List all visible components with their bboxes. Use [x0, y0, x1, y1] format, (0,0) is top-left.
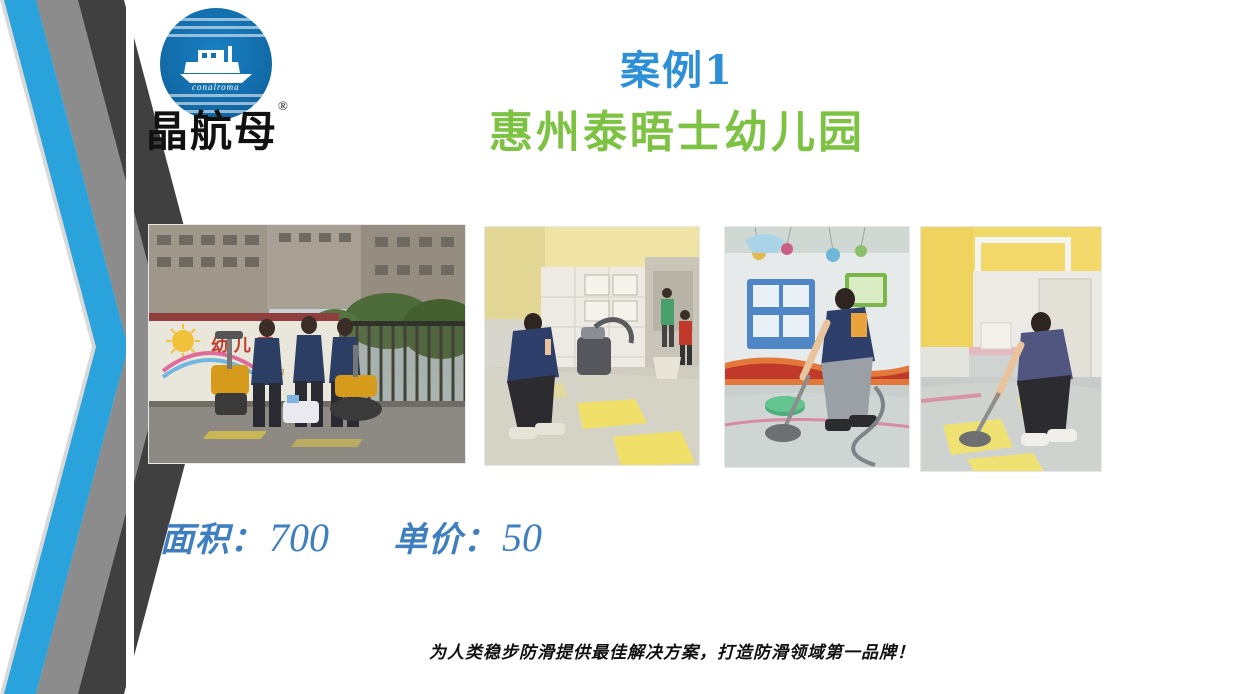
logo-emblem-text: conalroma	[192, 82, 240, 92]
photo-corridor-work	[484, 226, 700, 466]
footer-slogan: 为人类稳步防滑提供最佳解决方案，打造防滑领域第一品牌！	[0, 638, 1234, 663]
price-label: 单价：	[393, 512, 498, 561]
slide-canvas: conalroma 晶航母 ® 案例1 惠州泰晤士幼儿园	[0, 0, 1234, 694]
project-stats: 面积： 700 单价： 50	[160, 512, 542, 561]
case-title: 案例1	[0, 38, 1234, 96]
project-title: 惠州泰晤士幼儿园	[0, 96, 1234, 160]
photo-strip: 幼 儿 园 arten	[148, 222, 1108, 470]
photo-kindergarten-entrance: 幼 儿 园 arten	[148, 224, 466, 464]
price-value: 50	[502, 514, 542, 561]
photo-washroom-work	[920, 226, 1102, 472]
area-value: 700	[269, 514, 329, 561]
area-label: 面积：	[160, 512, 265, 561]
photo-classroom-work	[724, 226, 910, 468]
